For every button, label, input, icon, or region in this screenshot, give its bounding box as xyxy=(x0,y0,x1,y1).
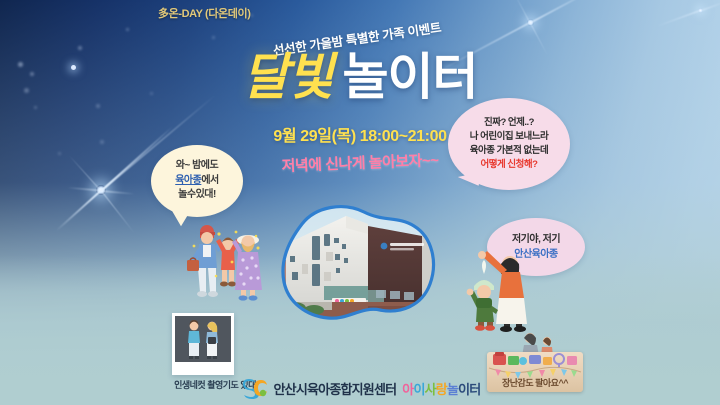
playground-logo-char-5: 놀 xyxy=(447,382,458,397)
bubble-rt-line3: 육아종 가본적 없는데 xyxy=(470,144,548,158)
brand-tag: 多온-DAY (다온데이) xyxy=(158,5,250,21)
family-illustration-left xyxy=(186,216,264,304)
poster-canvas: 多온-DAY (다온데이) 선선한 가을밤 특별한 가족 이벤트 달빛놀이터 9… xyxy=(0,0,720,405)
bubble-left-line2-rest: 에서 xyxy=(201,175,218,186)
center-building-photo xyxy=(272,198,442,338)
bubble-rt-line1: 진짜? 언제..? xyxy=(470,116,548,130)
bubble-left-line3: 놀수있대! xyxy=(175,188,219,203)
polaroid-image xyxy=(175,316,231,362)
bubble-left-line2: 육아종에서 xyxy=(175,174,219,189)
bubble-rt-line2: 나 어린이집 보내느라 xyxy=(470,130,548,144)
bubble-left-text: 와~ 밤에도 육아종에서 놀수있대! xyxy=(175,159,219,203)
title-main: 놀이터 xyxy=(343,49,478,105)
building-photo-content xyxy=(272,198,442,338)
bubble-right-top-text: 진짜? 언제..? 나 어린이집 보내느라 육아종 가본적 없는데 어떻게 신청… xyxy=(470,116,548,173)
page-title: 달빛놀이터 xyxy=(0,52,720,102)
figure-mom xyxy=(232,235,262,301)
bubble-rt-line4: 어떻게 신청해? xyxy=(470,158,548,172)
polaroid-photo-frame xyxy=(172,313,234,375)
bubble-rm-line1: 저기야, 저기 xyxy=(512,232,560,247)
playground-logo-char-2: 이 xyxy=(413,382,424,397)
bubble-left-line1: 와~ 밤에도 xyxy=(175,159,219,174)
playground-logo-char-4: 랑 xyxy=(436,382,447,397)
mom-child-illustration-right xyxy=(466,248,546,332)
org-name: 안산시육아종합지원센터 xyxy=(274,379,397,398)
sc-logo-icon xyxy=(240,377,268,399)
playground-logo-char-6: 이터 xyxy=(458,382,480,397)
playground-logo: 아이사랑놀이터 xyxy=(402,379,480,398)
speech-bubble-left: 와~ 밤에도 육아종에서 놀수있대! xyxy=(151,145,243,217)
bubble-left-highlight: 육아종 xyxy=(175,175,201,186)
figure-child-right xyxy=(467,260,498,331)
speech-bubble-right-top: 진짜? 언제..? 나 어린이집 보내느라 육아종 가본적 없는데 어떻게 신청… xyxy=(448,98,570,190)
footer-logos: 안산시육아종합지원센터 아이사랑놀이터 xyxy=(0,377,720,399)
playground-logo-char-1: 아 xyxy=(402,382,413,397)
title-highlight: 달빛 xyxy=(243,49,333,105)
playground-logo-char-3: 사 xyxy=(425,382,436,397)
